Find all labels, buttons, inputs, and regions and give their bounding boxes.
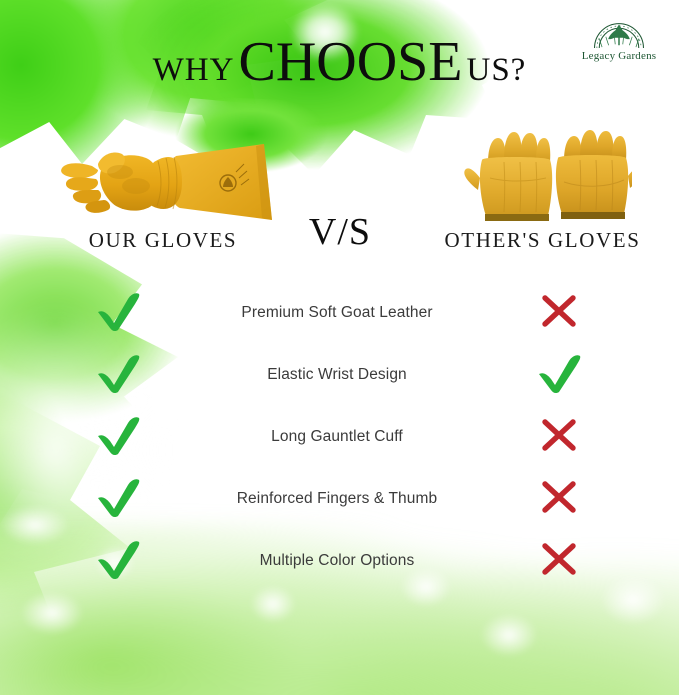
bokeh-dot [20, 591, 84, 635]
table-row: Long Gauntlet Cuff [0, 406, 679, 468]
our-mark-cell [0, 476, 235, 523]
cross-mark-icon [538, 416, 580, 454]
table-row: Premium Soft Goat Leather [0, 282, 679, 344]
title-word-why: WHY [153, 52, 235, 88]
feature-label: Elastic Wrist Design [235, 365, 439, 385]
page-title: WHYCHOOSEUS? [0, 34, 679, 90]
table-row: Elastic Wrist Design [0, 344, 679, 406]
our-mark-cell [0, 352, 235, 399]
other-mark-cell [439, 540, 679, 583]
comparison-table: Premium Soft Goat LeatherElastic Wrist D… [0, 282, 679, 592]
check-mark-icon [535, 352, 583, 394]
our-mark-cell [0, 414, 235, 461]
title-word-us: US? [467, 52, 527, 88]
check-mark-icon [94, 538, 142, 580]
our-glove-image [58, 128, 290, 238]
our-mark-check [94, 414, 142, 461]
feature-label: Long Gauntlet Cuff [235, 427, 439, 447]
our-mark-check [94, 290, 142, 337]
our-mark-check [94, 352, 142, 399]
bokeh-dot [480, 613, 538, 657]
check-mark-icon [94, 352, 142, 394]
our-gloves-caption: OUR GLOVES [38, 228, 288, 253]
check-mark-icon [94, 476, 142, 518]
cross-mark-icon [538, 292, 580, 330]
other-mark-check [535, 352, 583, 399]
table-row: Multiple Color Options [0, 530, 679, 592]
our-mark-cell [0, 538, 235, 585]
other-gloves-caption: OTHER'S GLOVES [425, 228, 660, 253]
other-mark-cell [439, 416, 679, 459]
versus-label: V/S [290, 210, 390, 254]
long-gauntlet-leather-glove-icon [58, 128, 290, 238]
our-mark-check [94, 476, 142, 523]
feature-label: Premium Soft Goat Leather [235, 303, 439, 323]
other-glove-image [452, 120, 632, 240]
infographic-canvas: Legacy Gardens WHYCHOOSEUS? [0, 0, 679, 695]
our-mark-cell [0, 290, 235, 337]
other-mark-cross [538, 540, 580, 583]
other-mark-cross [538, 292, 580, 335]
other-mark-cell [439, 292, 679, 335]
cross-mark-icon [538, 478, 580, 516]
other-mark-cross [538, 416, 580, 459]
table-row: Reinforced Fingers & Thumb [0, 468, 679, 530]
feature-label: Reinforced Fingers & Thumb [235, 489, 439, 509]
check-mark-icon [94, 290, 142, 332]
cross-mark-icon [538, 540, 580, 578]
other-mark-cell [439, 478, 679, 521]
feature-label: Multiple Color Options [235, 551, 439, 571]
other-mark-cross [538, 478, 580, 521]
short-leather-glove-pair-icon [452, 120, 632, 240]
check-mark-icon [94, 414, 142, 456]
our-mark-check [94, 538, 142, 585]
title-word-choose: CHOOSE [238, 31, 462, 93]
other-mark-cell [439, 352, 679, 399]
